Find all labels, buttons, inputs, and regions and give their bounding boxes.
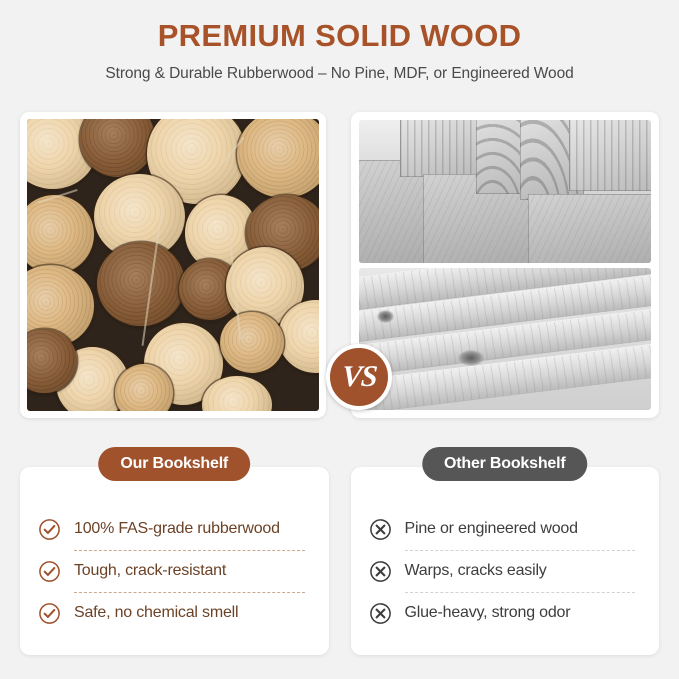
list-item: Tough, crack-resistant — [38, 553, 311, 590]
our-bookshelf-badge: Our Bookshelf — [98, 447, 250, 481]
photo-comparison-row: VS — [20, 112, 659, 418]
list-item-label: Pine or engineered wood — [405, 519, 578, 539]
list-item-label: Safe, no chemical smell — [74, 603, 238, 623]
list-item-label: Warps, cracks easily — [405, 561, 547, 581]
list-item: Pine or engineered wood — [369, 511, 642, 548]
list-item: Safe, no chemical smell — [38, 595, 311, 632]
list-divider — [74, 592, 305, 593]
header: PREMIUM SOLID WOOD Strong & Durable Rubb… — [0, 0, 679, 83]
x-circle-icon — [369, 560, 392, 583]
other-bookshelf-card: Other Bookshelf Pine or engineered wood … — [351, 467, 660, 655]
page-subtitle: Strong & Durable Rubberwood – No Pine, M… — [0, 65, 679, 83]
x-circle-icon — [369, 602, 392, 625]
list-item-label: Glue-heavy, strong odor — [405, 603, 571, 623]
grayscale-lumber-beams-image — [359, 120, 651, 263]
our-bookshelf-card: Our Bookshelf 100% FAS-grade rubberwood … — [20, 467, 329, 655]
list-item: 100% FAS-grade rubberwood — [38, 511, 311, 548]
check-circle-icon — [38, 602, 61, 625]
check-circle-icon — [38, 560, 61, 583]
check-circle-icon — [38, 518, 61, 541]
list-item: Glue-heavy, strong odor — [369, 595, 642, 632]
vs-badge: VS — [326, 344, 392, 410]
feature-comparison-row: Our Bookshelf 100% FAS-grade rubberwood … — [20, 467, 659, 655]
list-item-label: Tough, crack-resistant — [74, 561, 226, 581]
list-divider — [405, 550, 636, 551]
list-divider — [405, 592, 636, 593]
our-product-photo-card — [20, 112, 326, 418]
list-item-label: 100% FAS-grade rubberwood — [74, 519, 280, 539]
page-title: PREMIUM SOLID WOOD — [0, 18, 679, 54]
grayscale-engineered-boards-image — [359, 268, 651, 411]
other-product-photo-card — [351, 112, 659, 418]
list-item: Warps, cracks easily — [369, 553, 642, 590]
list-divider — [74, 550, 305, 551]
vs-label: VS — [341, 362, 378, 392]
x-circle-icon — [369, 518, 392, 541]
other-bookshelf-badge: Other Bookshelf — [422, 447, 587, 481]
stacked-solid-wood-logs-image — [27, 119, 319, 411]
